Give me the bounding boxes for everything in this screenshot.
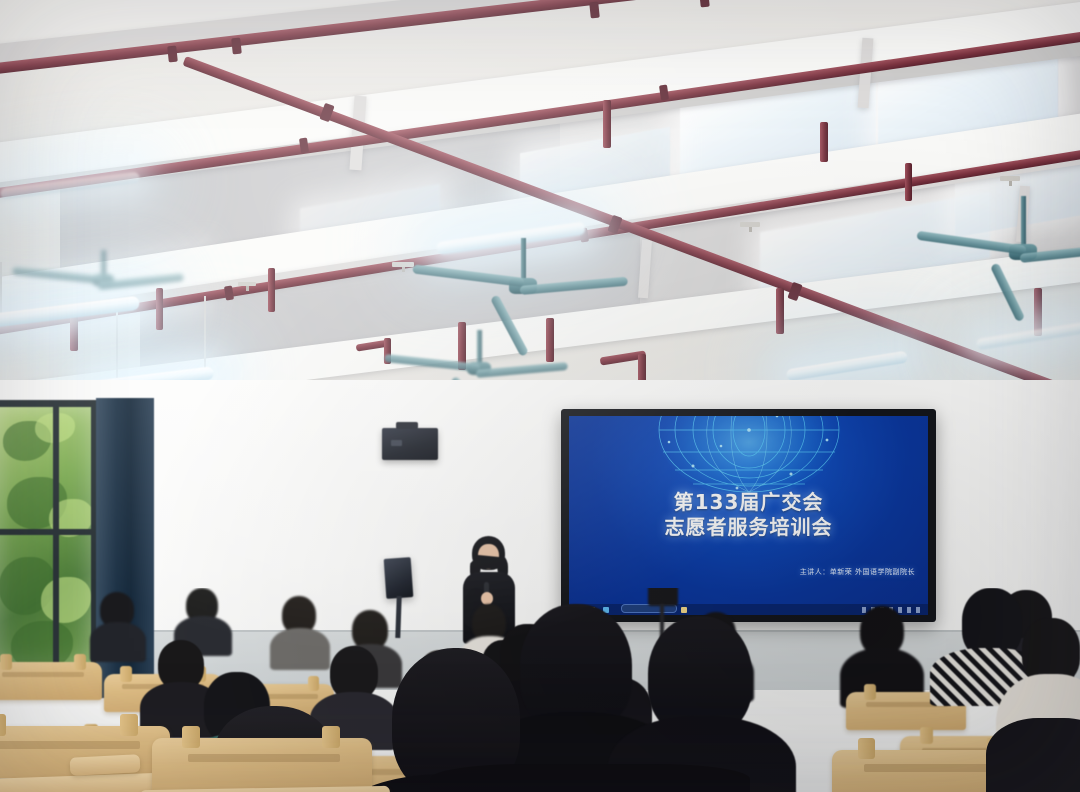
chair-slat-gap bbox=[0, 741, 140, 749]
chair-post bbox=[864, 684, 876, 700]
pipe-riser bbox=[776, 288, 784, 334]
chair-post bbox=[858, 738, 875, 759]
light-hanger-rod bbox=[0, 262, 2, 320]
pipe-riser bbox=[905, 163, 912, 201]
window-mullion bbox=[0, 529, 91, 535]
ceiling-fan bbox=[940, 196, 1080, 292]
auditorium-chair bbox=[0, 662, 102, 714]
screen-title-block: 第133届广交会 志愿者服务培训会 bbox=[569, 490, 928, 540]
audience-seating bbox=[0, 588, 1080, 792]
sprinkler-head bbox=[740, 222, 760, 227]
fan-downrod bbox=[477, 330, 482, 364]
chair-slat-gap bbox=[188, 754, 340, 762]
ceiling-fan bbox=[438, 238, 608, 334]
speaker-bracket bbox=[396, 422, 418, 429]
chair-post bbox=[120, 714, 138, 736]
chair-slat-gap bbox=[864, 764, 1002, 772]
attendee-shoulders bbox=[430, 764, 750, 792]
lecture-hall-photo: 第133届广交会 志愿者服务培训会 主讲人：单新荣 外国语学院副院长 bbox=[0, 0, 1080, 792]
ceiling bbox=[0, 0, 1080, 430]
display-screen: 第133届广交会 志愿者服务培训会 主讲人：单新荣 外国语学院副院长 bbox=[569, 416, 928, 615]
pipe-riser bbox=[603, 100, 611, 148]
screen-title-line-1: 第133届广交会 bbox=[569, 490, 928, 515]
chair-armrest bbox=[70, 754, 141, 776]
fan-downrod bbox=[1021, 196, 1026, 246]
attendee-shoulders bbox=[270, 628, 330, 670]
chair-post bbox=[0, 654, 12, 670]
pipe-coupling bbox=[699, 0, 710, 7]
chair-post bbox=[308, 676, 319, 691]
sprinkler-head bbox=[238, 282, 256, 286]
chair-post bbox=[182, 726, 200, 748]
screen-subtitle: 主讲人：单新荣 外国语学院副院长 bbox=[800, 567, 915, 577]
pipe-riser bbox=[820, 122, 828, 162]
chair-post bbox=[322, 726, 340, 748]
chair-slat-gap bbox=[2, 672, 84, 677]
speaker-grille bbox=[391, 440, 402, 446]
sprinkler-head bbox=[1000, 176, 1020, 181]
wall-speaker bbox=[382, 428, 438, 460]
pipe-coupling bbox=[589, 2, 600, 19]
screen-title-line-2: 志愿者服务培训会 bbox=[569, 515, 928, 540]
chair-post bbox=[920, 727, 933, 744]
pipe-riser bbox=[268, 268, 275, 312]
chair-back bbox=[0, 662, 102, 700]
chair-post bbox=[0, 714, 6, 736]
fluorescent-tube-light bbox=[976, 321, 1080, 350]
chair-post bbox=[120, 666, 132, 682]
ceiling-fan bbox=[28, 250, 178, 330]
fluorescent-tube-light bbox=[786, 351, 908, 382]
fan-blade bbox=[384, 354, 480, 372]
pipe-coupling bbox=[231, 38, 242, 55]
attendee-shoulders bbox=[986, 718, 1080, 792]
fan-downrod bbox=[521, 238, 526, 280]
light-hanger-rod bbox=[204, 296, 206, 372]
pipe-coupling bbox=[167, 46, 178, 63]
attendee-shoulders bbox=[90, 622, 146, 662]
auditorium-chair bbox=[152, 738, 372, 792]
sprinkler-head bbox=[392, 262, 414, 267]
chair-post bbox=[74, 654, 86, 670]
fan-downrod bbox=[101, 250, 106, 276]
